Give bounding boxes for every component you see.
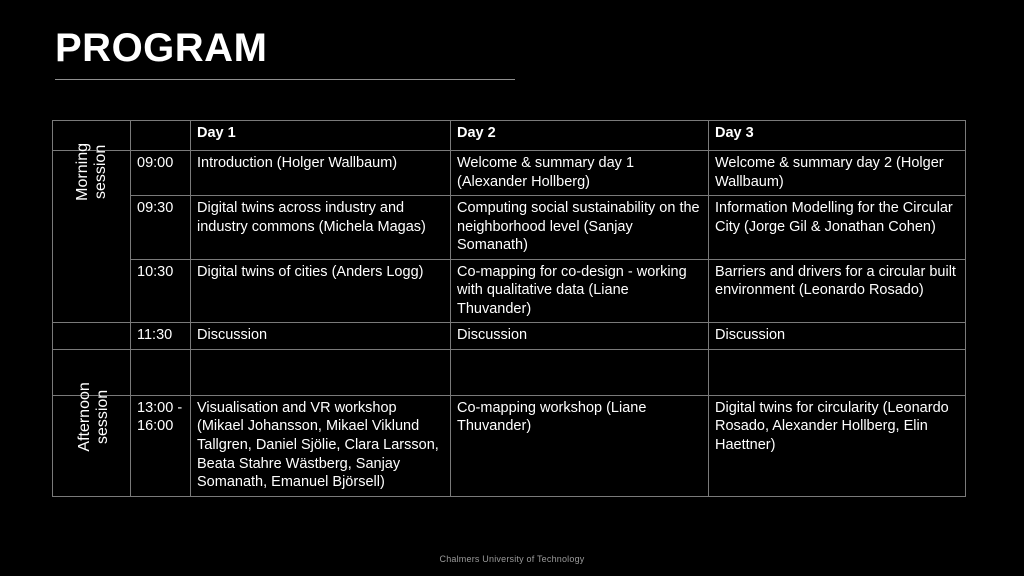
row-time: 09:00 (131, 151, 191, 196)
table-header-row: Day 1 Day 2 Day 3 (53, 121, 966, 151)
spacer-day2 (451, 349, 709, 395)
cell-day3: Barriers and drivers for a circular buil… (709, 259, 966, 323)
session-label-afternoon: Afternoon session (53, 395, 131, 496)
session-label-empty (53, 323, 131, 350)
table-row: 09:30 Digital twins across industry and … (53, 196, 966, 260)
cell-day3: Discussion (709, 323, 966, 350)
title-underline-rule (55, 79, 515, 80)
header-time (131, 121, 191, 151)
spacer-time (131, 349, 191, 395)
table-row: Afternoon session 13:00 - 16:00 Visualis… (53, 395, 966, 496)
header-day-2: Day 2 (451, 121, 709, 151)
morning-session-text: Morning session (74, 139, 110, 205)
cell-day2: Co-mapping for co-design - working with … (451, 259, 709, 323)
cell-day1: Discussion (191, 323, 451, 350)
program-table: Day 1 Day 2 Day 3 Morning session 09:00 … (52, 120, 966, 497)
cell-day2: Welcome & summary day 1 (Alexander Hollb… (451, 151, 709, 196)
cell-day1: Visualisation and VR workshop (Mikael Jo… (191, 395, 451, 496)
title-block: PROGRAM (55, 28, 675, 80)
table-row: 11:30 Discussion Discussion Discussion (53, 323, 966, 350)
table-row-spacer (53, 349, 966, 395)
row-time: 10:30 (131, 259, 191, 323)
cell-day1: Digital twins of cities (Anders Logg) (191, 259, 451, 323)
cell-day2: Co-mapping workshop (Liane Thuvander) (451, 395, 709, 496)
cell-day1: Digital twins across industry and indust… (191, 196, 451, 260)
cell-day1: Introduction (Holger Wallbaum) (191, 151, 451, 196)
session-label-morning: Morning session (53, 151, 131, 323)
table-row: 10:30 Digital twins of cities (Anders Lo… (53, 259, 966, 323)
spacer-day3 (709, 349, 966, 395)
cell-day3: Digital twins for circularity (Leonardo … (709, 395, 966, 496)
cell-day2: Computing social sustainability on the n… (451, 196, 709, 260)
program-slide: PROGRAM Day 1 Day 2 Day 3 Morning sess (0, 0, 1024, 576)
page-title: PROGRAM (55, 28, 675, 68)
afternoon-session-text: Afternoon session (76, 382, 112, 451)
footer-text: Chalmers University of Technology (0, 554, 1024, 564)
row-time: 11:30 (131, 323, 191, 350)
cell-day2: Discussion (451, 323, 709, 350)
header-day-3: Day 3 (709, 121, 966, 151)
row-time: 13:00 - 16:00 (131, 395, 191, 496)
cell-day3: Welcome & summary day 2 (Holger Wallbaum… (709, 151, 966, 196)
header-day-1: Day 1 (191, 121, 451, 151)
row-time: 09:30 (131, 196, 191, 260)
table-row: Morning session 09:00 Introduction (Holg… (53, 151, 966, 196)
cell-day3: Information Modelling for the Circular C… (709, 196, 966, 260)
spacer-day1 (191, 349, 451, 395)
